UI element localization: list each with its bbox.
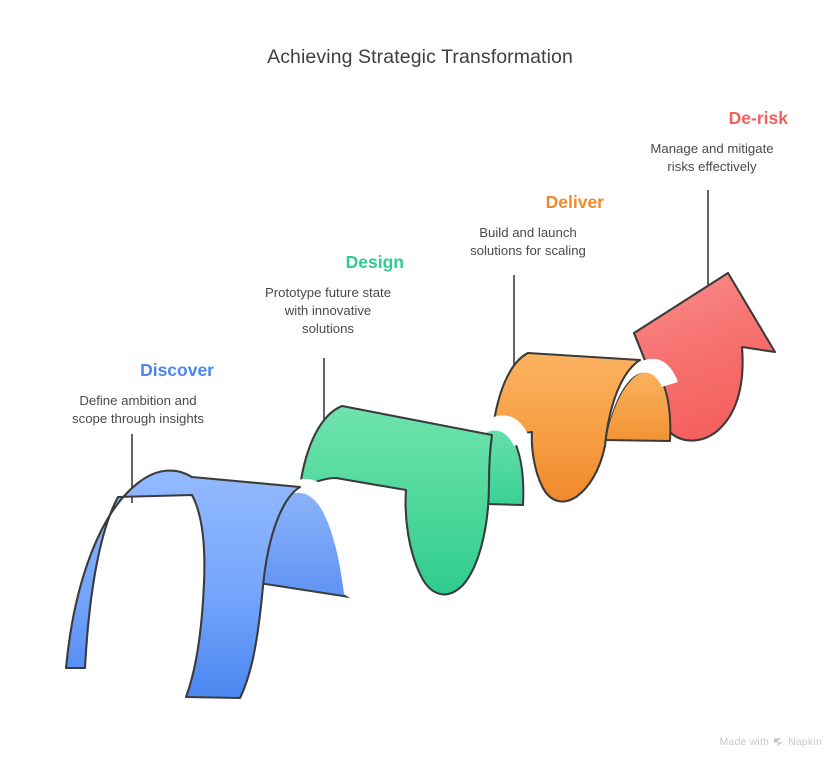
stage-description-line: solutions [228, 320, 428, 338]
stage-description-line: Build and launch [428, 224, 628, 242]
ribbon-segment-discover [66, 471, 360, 698]
stage-title-design: Design [346, 252, 404, 272]
stage-description-line: scope through insights [38, 410, 238, 428]
stage-description-line: Prototype future state [228, 284, 428, 302]
stage-description-line: Manage and mitigate [612, 140, 812, 158]
stage-label-deliver: Deliver Build and launch solutions for s… [428, 193, 628, 260]
stage-description-design: Prototype future state with innovative s… [228, 284, 428, 337]
stage-label-design: Design Prototype future state with innov… [228, 253, 428, 337]
napkin-logo-icon [773, 737, 784, 748]
page-title: Achieving Strategic Transformation [0, 46, 840, 69]
stage-description-line: risks effectively [612, 158, 812, 176]
stage-title-discover: Discover [140, 360, 214, 380]
stage-description-line: solutions for scaling [428, 242, 628, 260]
stage-description-derisk: Manage and mitigate risks effectively [612, 140, 812, 176]
stage-label-derisk: De-risk Manage and mitigate risks effect… [612, 109, 812, 176]
napkin-watermark[interactable]: Made with Napkin [719, 736, 822, 748]
stage-description-line: Define ambition and [38, 392, 238, 410]
watermark-prefix-label: Made with [719, 736, 769, 748]
stage-description-line: with innovative [228, 302, 428, 320]
stage-label-discover: Discover Define ambition and scope throu… [38, 361, 238, 428]
stage-title-deliver: Deliver [546, 192, 604, 212]
stage-description-discover: Define ambition and scope through insigh… [38, 392, 238, 428]
stage-title-derisk: De-risk [729, 108, 788, 128]
watermark-brand-label: Napkin [788, 736, 822, 748]
stage-description-deliver: Build and launch solutions for scaling [428, 224, 628, 260]
